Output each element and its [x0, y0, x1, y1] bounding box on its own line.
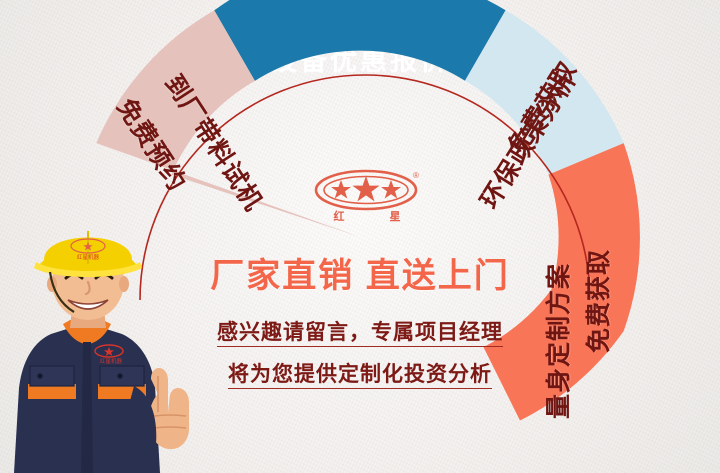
subtitle-line-1-text: 感兴趣请留言，专属项目经理 [217, 321, 503, 347]
subtitle-line-1: 感兴趣请留言，专属项目经理 [150, 316, 570, 346]
logo-char-right: 星 [390, 208, 403, 224]
subtitle-line-2: 将为您提供定制化投资分析 [150, 358, 570, 388]
brand-logo: ® 红 星 [312, 168, 424, 230]
star-left [331, 180, 351, 199]
svg-text:红星机器: 红星机器 [77, 253, 100, 261]
subtitle-line-2-text: 将为您提供定制化投资分析 [228, 363, 492, 389]
segment-blue-main [214, 0, 505, 81]
star-center [352, 176, 379, 201]
worker-pocket-left [30, 366, 74, 386]
worker-pocket-button-right [117, 373, 122, 378]
svg-text:红星机器: 红星机器 [100, 357, 123, 365]
worker-ear-right [119, 276, 129, 292]
logo-char-left: 红 [334, 208, 347, 224]
logo-brand-text: 红 星 [312, 208, 424, 224]
star-right [381, 180, 401, 199]
page-title: 厂家直销 直送上门 [150, 248, 570, 297]
worker-placket [81, 342, 93, 473]
promo-banner: 免费咨询 设备优惠报价 免费预约 到厂带料试机 免费获取 环保政策分析 免费获取… [0, 0, 720, 473]
worker-photo: 红星机器 红星机器 [8, 216, 198, 473]
worker-pocket-button-left [37, 373, 42, 378]
registered-mark-icon: ® [413, 171, 419, 180]
